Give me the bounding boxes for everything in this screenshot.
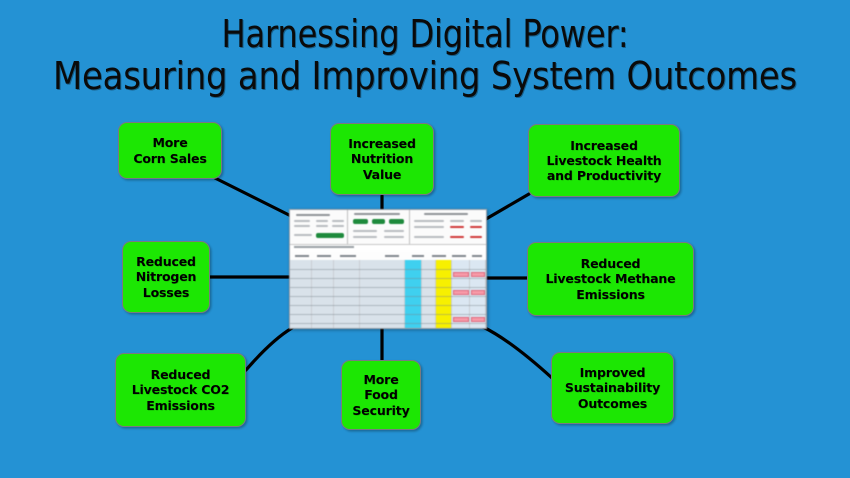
spreadsheet-screenshot[interactable]	[289, 209, 487, 329]
outcome-label: Increased Livestock Health and Productiv…	[546, 138, 661, 184]
toolbar-green-button[interactable]	[316, 233, 344, 238]
outcome-label: Improved Sustainability Outcomes	[565, 365, 660, 411]
grid-column-2	[312, 260, 334, 328]
outcome-label: More Corn Sales	[133, 135, 206, 166]
connector-increased-livestock-health	[486, 194, 529, 219]
spreadsheet-section-label	[294, 246, 354, 248]
highlight-cell	[453, 317, 469, 322]
outcome-node-increased-livestock-health-and-productivity[interactable]: Increased Livestock Health and Productiv…	[528, 124, 680, 197]
grid-column-3	[334, 260, 360, 328]
outcome-node-improved-sustainability-outcomes[interactable]: Improved Sustainability Outcomes	[551, 352, 674, 424]
highlight-cell	[471, 317, 485, 322]
grid-column-yellow	[436, 260, 452, 328]
outcome-label: More Food Security	[352, 372, 409, 418]
outcome-label: Reduced Livestock Methane Emissions	[545, 256, 675, 302]
spreadsheet-grid[interactable]	[290, 251, 486, 328]
outcome-label: Increased Nutrition Value	[348, 136, 416, 182]
grid-column-cyan	[405, 260, 422, 328]
spreadsheet-toolbar	[290, 210, 486, 245]
outcome-node-reduced-nitrogen-losses[interactable]: Reduced Nitrogen Losses	[122, 241, 210, 313]
connector-reduced-livestock-co2	[246, 328, 292, 370]
grid-column-4	[360, 260, 405, 328]
connector-more-corn-sales	[215, 178, 291, 216]
toolbar-panel-center	[348, 210, 410, 244]
outcome-label: Reduced Livestock CO2 Emissions	[132, 367, 230, 413]
highlight-cell	[471, 272, 485, 277]
outcome-node-reduced-livestock-methane-emissions[interactable]: Reduced Livestock Methane Emissions	[527, 242, 694, 316]
toolbar-panel-right	[410, 210, 486, 244]
connector-improved-sustainability	[483, 327, 552, 378]
outcome-node-reduced-livestock-co2-emissions[interactable]: Reduced Livestock CO2 Emissions	[115, 353, 246, 427]
highlight-cell	[471, 290, 485, 295]
outcome-node-more-food-security[interactable]: More Food Security	[341, 360, 421, 430]
slide-canvas: Harnessing Digital Power: Measuring and …	[0, 0, 850, 478]
highlight-cell	[453, 290, 469, 295]
grid-column-5	[422, 260, 436, 328]
highlight-cell	[453, 272, 469, 277]
grid-column-1	[290, 260, 312, 328]
outcome-node-increased-nutrition-value[interactable]: Increased Nutrition Value	[330, 123, 434, 195]
toolbar-panel-left	[290, 210, 348, 244]
outcome-label: Reduced Nitrogen Losses	[136, 254, 197, 300]
outcome-node-more-corn-sales[interactable]: More Corn Sales	[118, 122, 222, 179]
